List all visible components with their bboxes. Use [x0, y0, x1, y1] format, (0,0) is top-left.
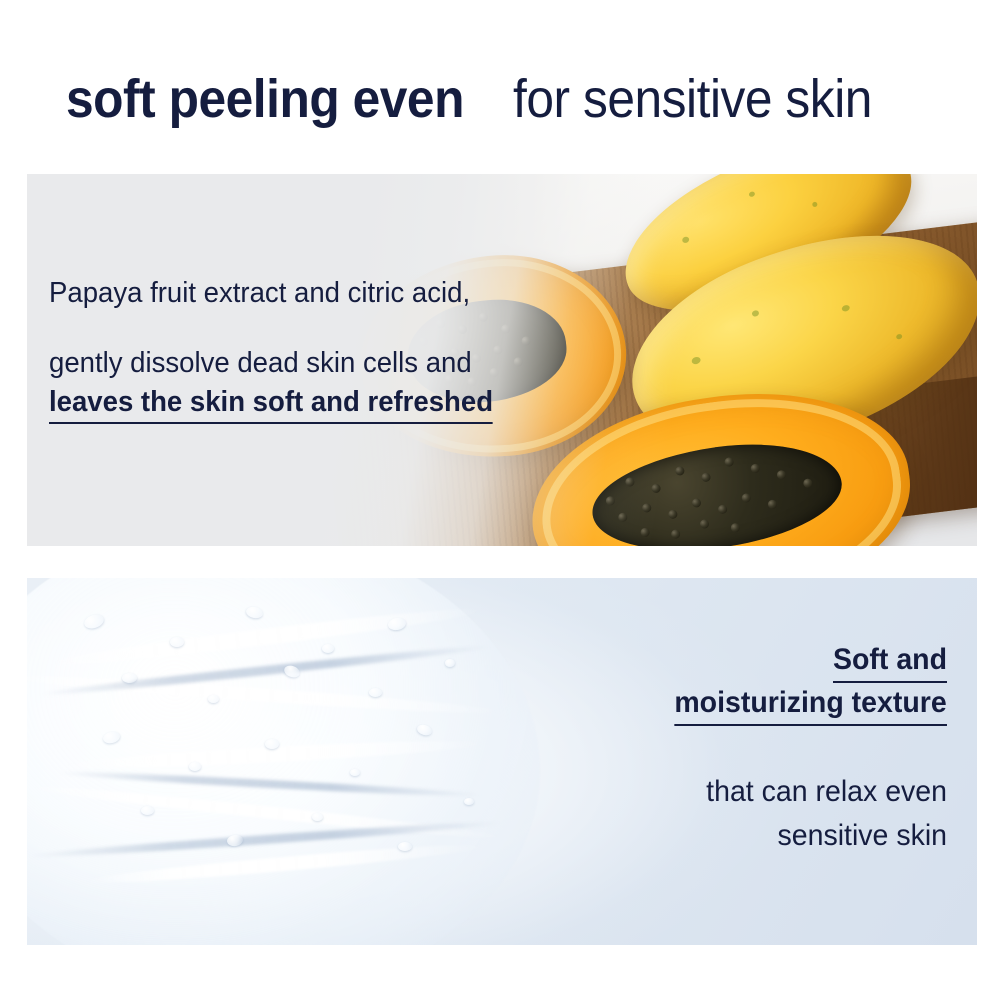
papaya-copy-line-2: gently dissolve dead skin cells and [49, 346, 543, 380]
papaya-copy-block: Papaya fruit extract and citric acid, ge… [49, 276, 569, 424]
gel-copy-soft-line-1: that can relax even [491, 770, 947, 814]
gel-copy-block: Soft and moisturizing texture that can r… [467, 640, 947, 858]
papaya-copy-line-1: Papaya fruit extract and citric acid, [49, 276, 543, 310]
gel-copy-bold-line-2: moisturizing texture [675, 683, 947, 726]
headline-light: for sensitive skin [513, 66, 872, 132]
headline-strong: soft peeling even [66, 66, 464, 132]
papaya-panel: Papaya fruit extract and citric acid, ge… [27, 174, 977, 546]
papaya-copy-line-3-emphasis: leaves the skin soft and refreshed [49, 384, 493, 424]
gel-texture-panel: Soft and moisturizing texture that can r… [27, 578, 977, 945]
gel-copy-soft-line-2: sensitive skin [491, 814, 947, 858]
gel-copy-bold-line-1: Soft and [833, 640, 947, 683]
page-headline: soft peeling even for sensitive skin [66, 66, 966, 132]
